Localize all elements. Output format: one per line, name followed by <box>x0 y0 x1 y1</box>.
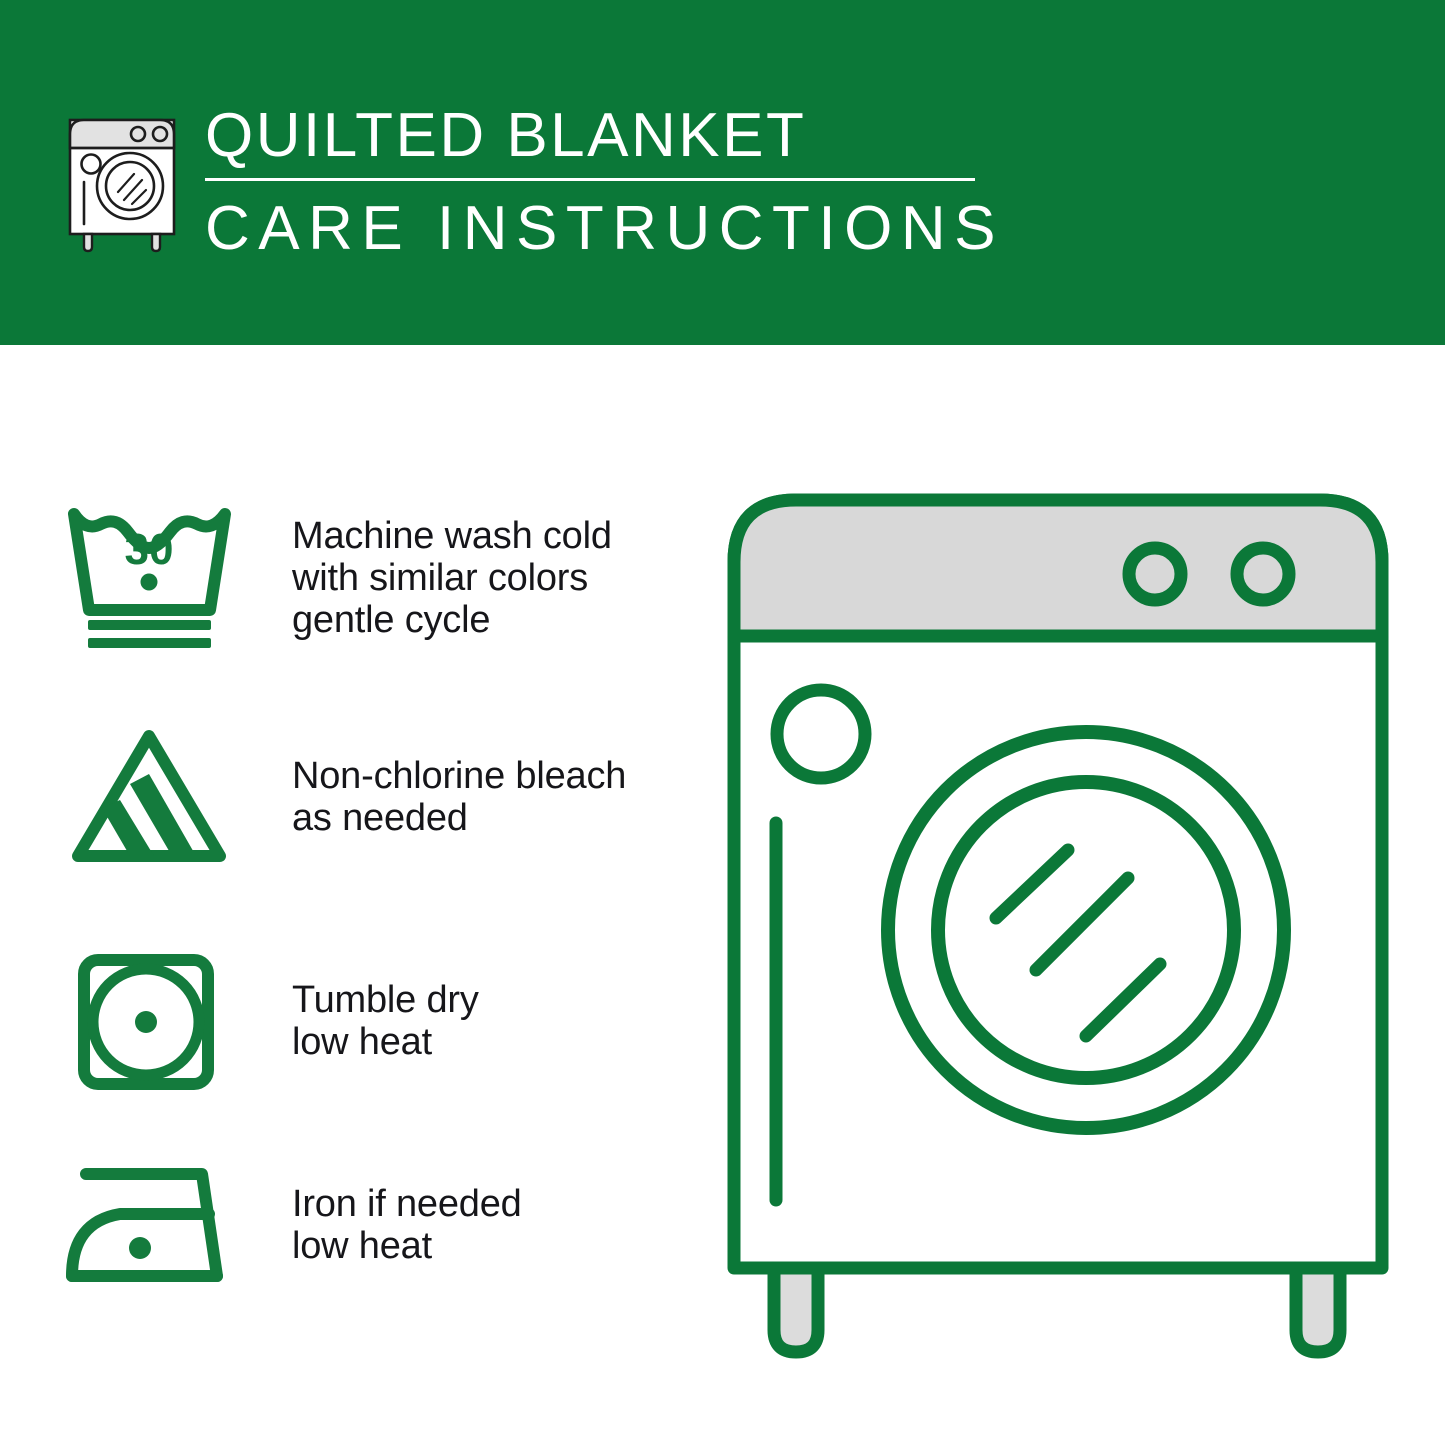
wash-tub-30-icon: 30 <box>62 498 237 658</box>
care-label-line: Machine wash cold <box>292 515 612 557</box>
care-label-iron: Iron if needed low heat <box>237 1183 522 1267</box>
care-label-wash: Machine wash cold with similar colors ge… <box>237 515 612 641</box>
iron-icon <box>62 1160 237 1290</box>
care-symbol-dry <box>62 946 237 1096</box>
wash-dot-icon <box>141 574 158 591</box>
care-label-line: Non-chlorine bleach <box>292 755 626 797</box>
care-row-dry: Tumble dry low heat <box>62 946 702 1096</box>
care-symbol-wash: 30 <box>62 498 237 658</box>
care-label-line: gentle cycle <box>292 599 612 641</box>
care-label-line: as needed <box>292 797 626 839</box>
page-title: QUILTED BLANKET <box>205 100 980 172</box>
care-label-line: low heat <box>292 1225 522 1267</box>
care-label-line: low heat <box>292 1021 479 1063</box>
iron-heat-dot-icon <box>129 1237 151 1259</box>
title-divider <box>205 178 975 181</box>
care-label-bleach: Non-chlorine bleach as needed <box>237 755 626 839</box>
bleach-triangle-icon <box>62 722 237 872</box>
foot-right <box>1296 1268 1340 1352</box>
gentle-bar-1 <box>88 620 211 630</box>
tumble-dry-icon <box>62 946 237 1096</box>
care-label-line: Tumble dry <box>292 979 479 1021</box>
dry-heat-dot-icon <box>135 1011 157 1033</box>
care-label-dry: Tumble dry low heat <box>237 979 479 1063</box>
care-instructions-card: QUILTED BLANKET CARE INSTRUCTIONS 30 Mac… <box>0 0 1445 1445</box>
care-label-line: Iron if needed <box>292 1183 522 1225</box>
header-title-block: QUILTED BLANKET CARE INSTRUCTIONS <box>205 100 980 265</box>
wash-temperature-value: 30 <box>125 525 174 574</box>
page-subtitle: CARE INSTRUCTIONS <box>205 193 980 265</box>
care-row-bleach: Non-chlorine bleach as needed <box>62 722 702 872</box>
care-row-iron: Iron if needed low heat <box>62 1160 702 1290</box>
care-symbol-iron <box>62 1160 237 1290</box>
gentle-bar-2 <box>88 638 211 648</box>
care-label-line: with similar colors <box>292 557 612 599</box>
washing-machine-icon <box>62 104 190 254</box>
washing-machine-illustration <box>718 478 1398 1368</box>
care-symbol-bleach <box>62 722 237 872</box>
care-row-wash: 30 Machine wash cold with similar colors… <box>62 498 702 658</box>
foot-left <box>774 1268 818 1352</box>
header-band: QUILTED BLANKET CARE INSTRUCTIONS <box>0 0 1445 345</box>
